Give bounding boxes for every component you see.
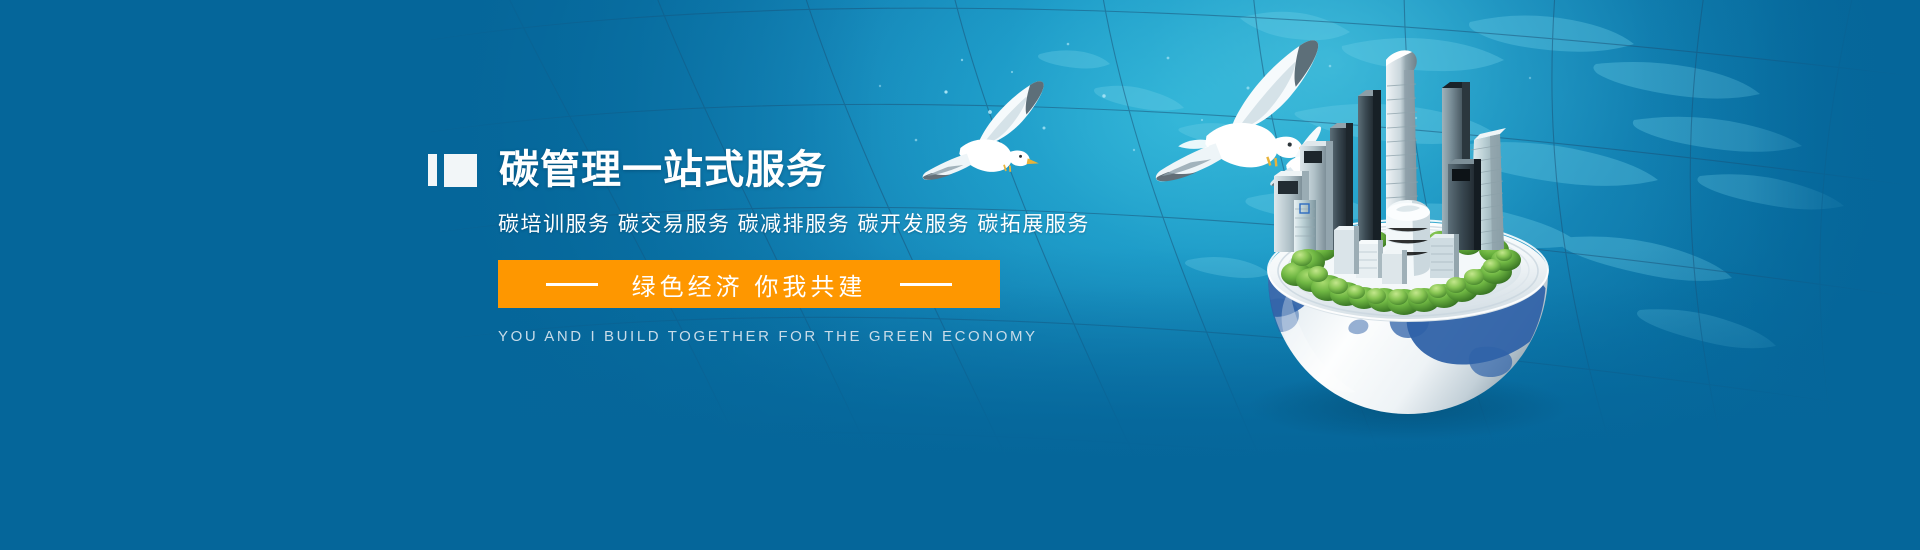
service-list: 碳培训服务 碳交易服务 碳减排服务 碳开发服务 碳拓展服务 (498, 208, 1218, 238)
mark-bar-icon (428, 154, 437, 186)
carbon-management-banner: 碳管理一站式服务 碳培训服务 碳交易服务 碳减排服务 碳开发服务 碳拓展服务 绿… (0, 0, 1920, 550)
dash-rule-right-icon (900, 283, 952, 286)
bar-block-mark-icon (428, 154, 477, 187)
dash-rule-left-icon (546, 283, 598, 286)
english-tagline: YOU AND I BUILD TOGETHER FOR THE GREEN E… (498, 328, 1218, 345)
page-title: 碳管理一站式服务 (499, 150, 827, 190)
headline-row: 碳管理一站式服务 (428, 150, 1218, 190)
banner-content: 碳管理一站式服务 碳培训服务 碳交易服务 碳减排服务 碳开发服务 碳拓展服务 绿… (498, 150, 1218, 345)
slogan-ribbon: 绿色经济 你我共建 (498, 260, 1000, 308)
mark-block-icon (444, 154, 477, 187)
slogan-text: 绿色经济 你我共建 (632, 267, 867, 302)
